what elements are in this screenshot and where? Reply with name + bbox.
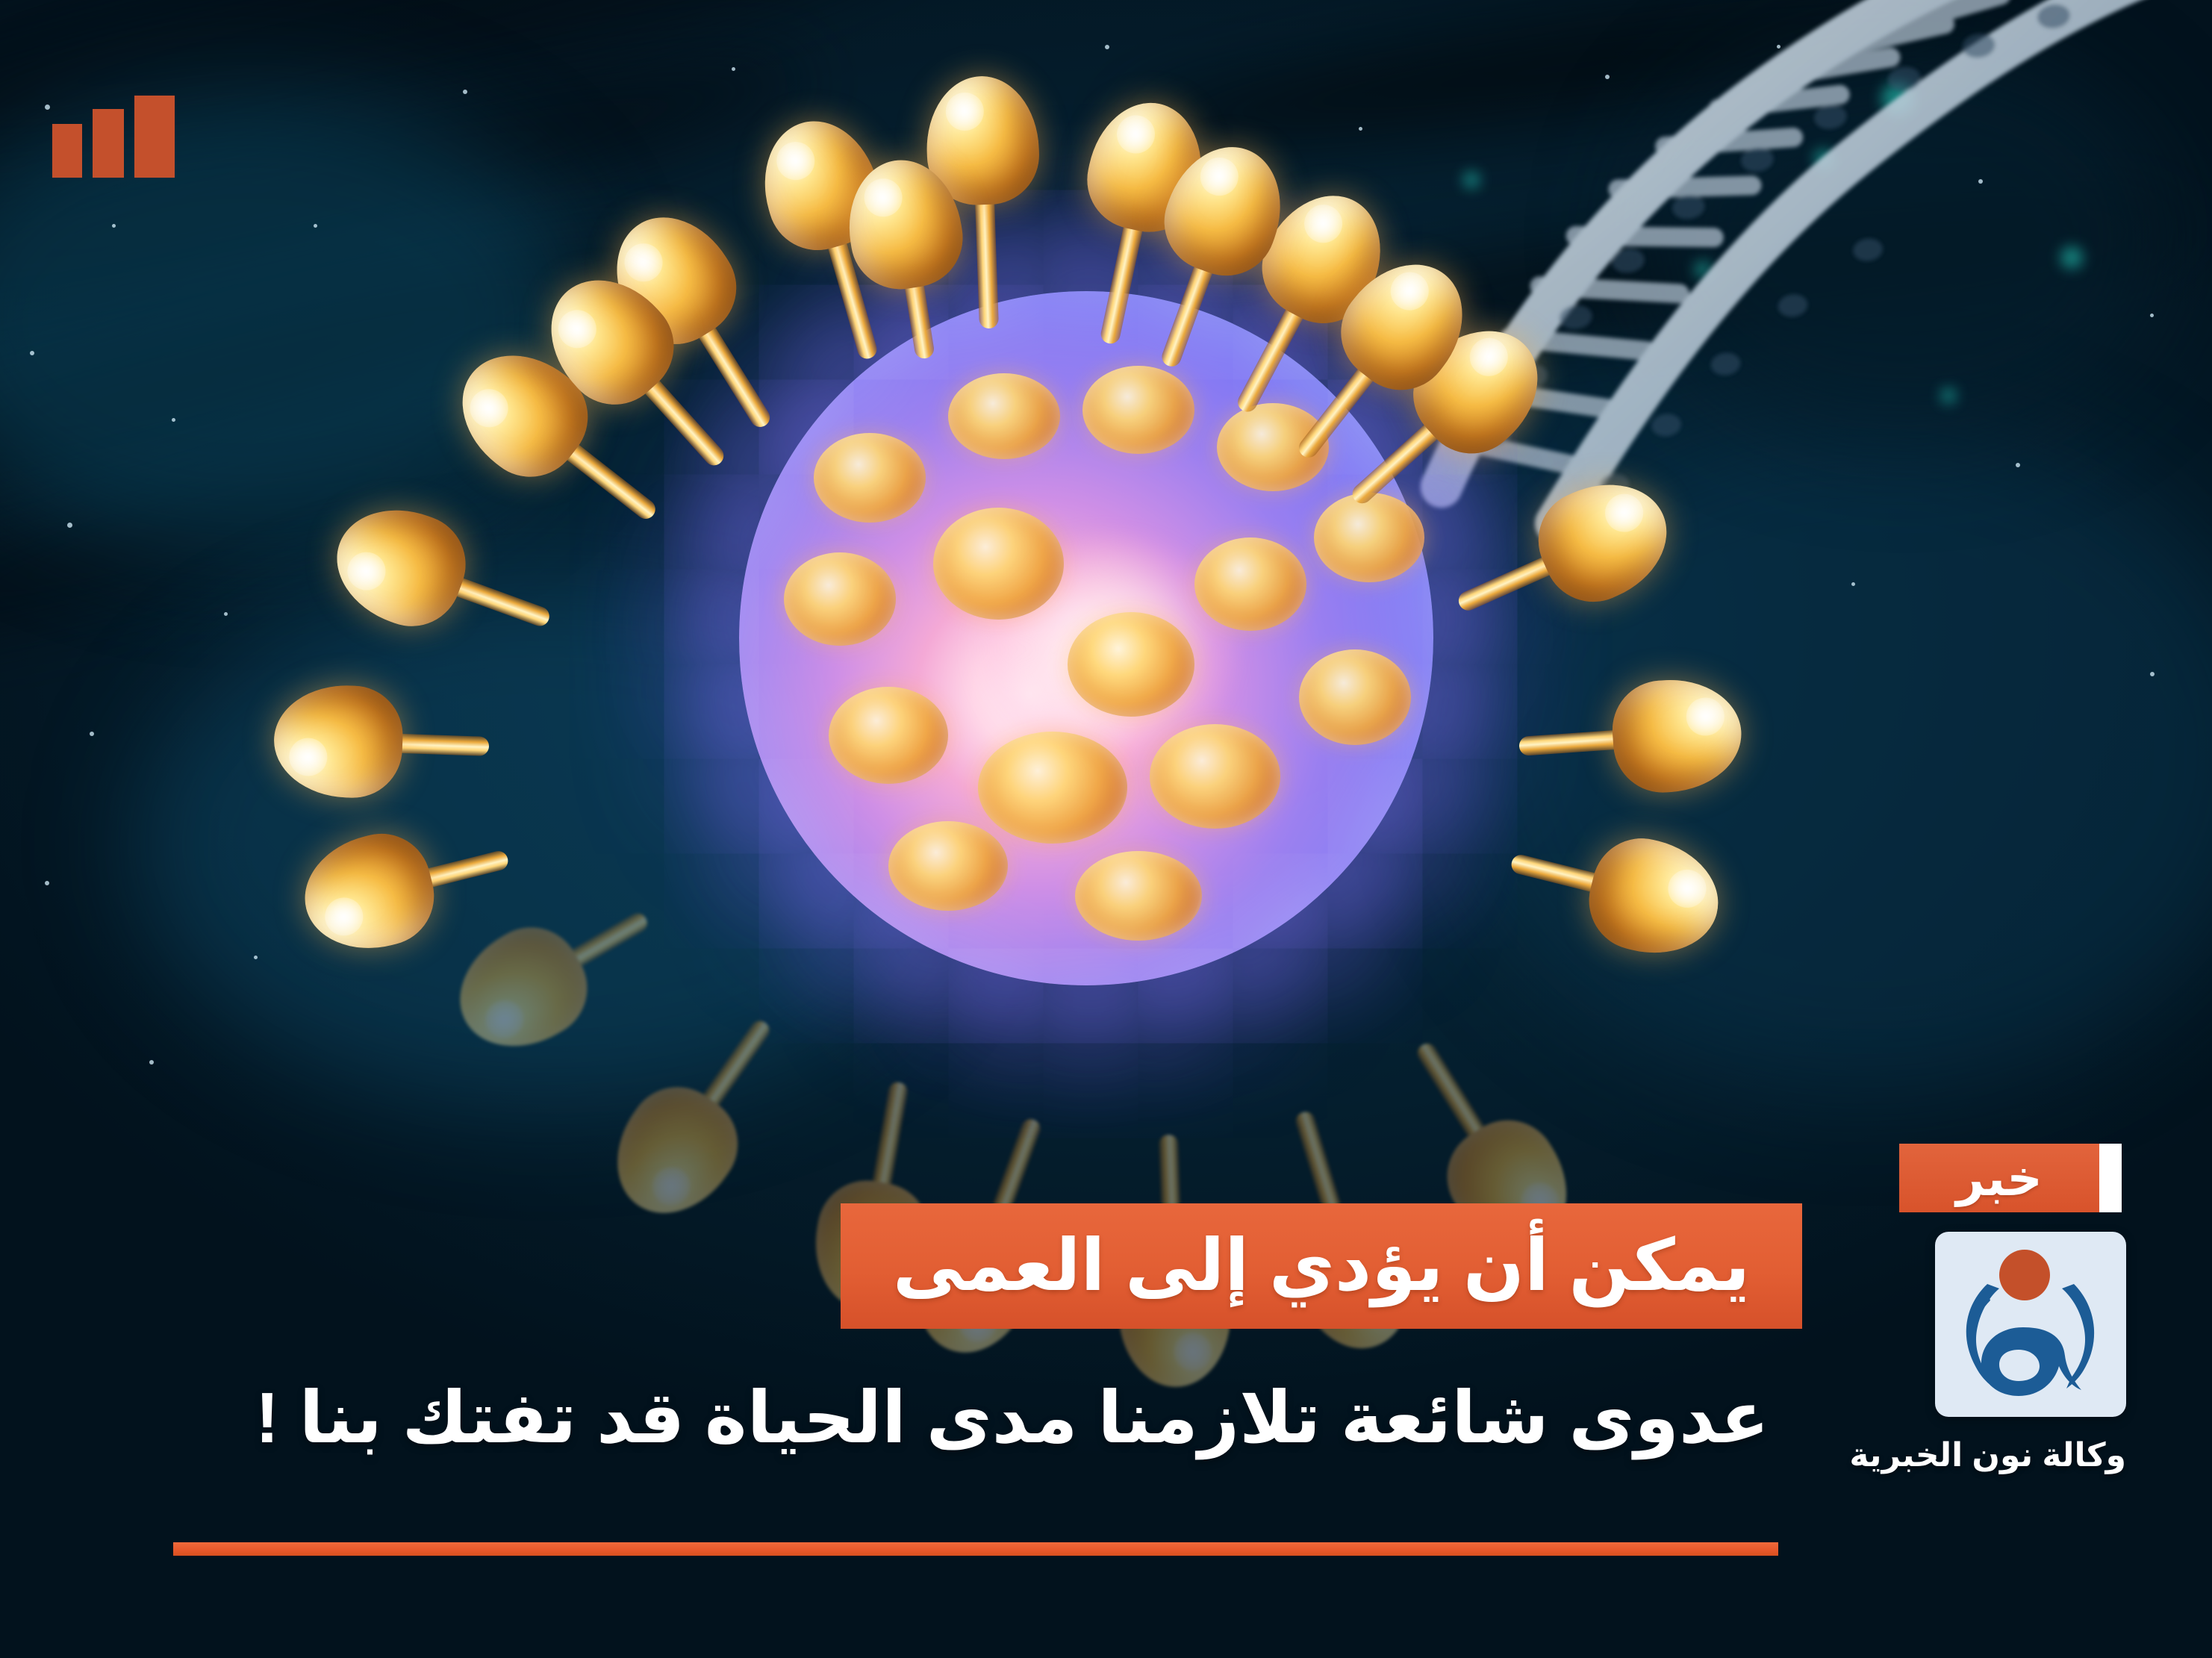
headline-text: عدوى شائعة تلازمنا مدى الحياة قد تفتك بن… [255, 1381, 1769, 1456]
orange-divider [173, 1542, 1778, 1556]
bar-2 [93, 109, 124, 178]
khabar-badge-label: خبر [1956, 1153, 2043, 1203]
white-bar-accent [2099, 1144, 2122, 1212]
agency-logo-mark[interactable] [1935, 1232, 2126, 1417]
logo-loop-body [1981, 1327, 2081, 1396]
three-bars-logo-icon[interactable] [52, 96, 175, 178]
brand-block: خبر وكالة نون الخبرية [1880, 1144, 2126, 1474]
news-card: يمكن أن يؤدي إلى العمى عدوى شائعة تلازمن… [0, 0, 2212, 1658]
kicker-text: يمكن أن يؤدي إلى العمى [893, 1230, 1750, 1302]
kicker-banner: يمكن أن يؤدي إلى العمى [841, 1203, 1802, 1329]
agency-name: وكالة نون الخبرية [1910, 1436, 2126, 1474]
headline: عدوى شائعة تلازمنا مدى الحياة قد تفتك بن… [314, 1370, 1769, 1467]
virus-illustration [321, 15, 1904, 1224]
khabar-badge-row: خبر [1880, 1144, 2126, 1212]
khabar-badge: خبر [1899, 1144, 2099, 1212]
bar-1 [134, 96, 175, 178]
noon-agency-logo-icon [1935, 1232, 2126, 1417]
bar-3 [52, 124, 82, 178]
logo-head-circle [1999, 1250, 2050, 1300]
